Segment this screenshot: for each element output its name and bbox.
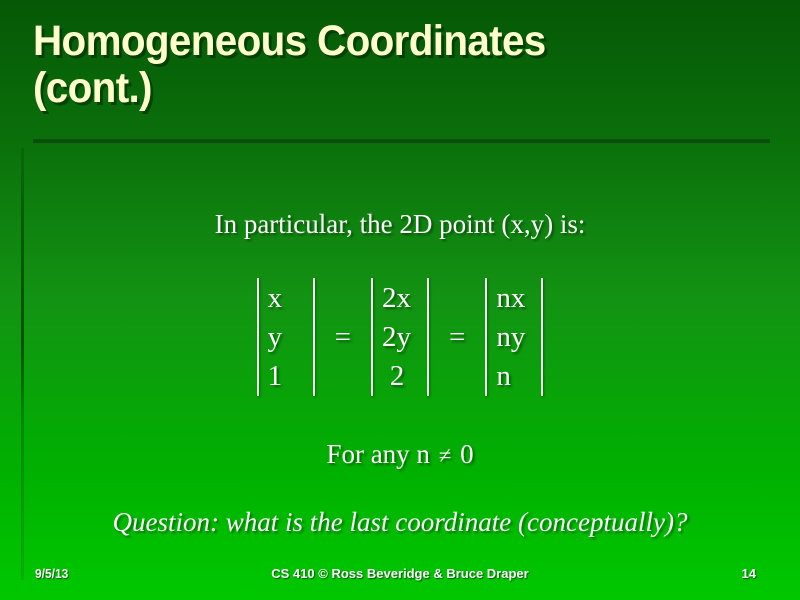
vector-cell: n bbox=[496, 357, 532, 396]
vector-cell: nx bbox=[496, 279, 532, 318]
not-equal-icon: ≠ bbox=[437, 443, 454, 468]
vector-cell: 1 bbox=[268, 357, 304, 396]
slide-footer: 9/5/13 CS 410 © Ross Beveridge & Bruce D… bbox=[0, 566, 800, 588]
vector-cell: 2y bbox=[382, 318, 418, 357]
equals-sign: = bbox=[315, 278, 371, 396]
vector-cartesian: x y 1 bbox=[257, 278, 315, 396]
vector-cells: nx ny n bbox=[487, 278, 541, 396]
condition-text: For any n ≠ 0 bbox=[0, 439, 800, 470]
vector-cell: 2x bbox=[382, 279, 418, 318]
footer-credit: CS 410 © Ross Beveridge & Bruce Draper bbox=[0, 566, 800, 581]
footer-page-number: 14 bbox=[742, 566, 756, 581]
equals-sign: = bbox=[429, 278, 485, 396]
intro-text: In particular, the 2D point (x,y) is: bbox=[0, 209, 800, 240]
vector-cell: 2 bbox=[382, 357, 418, 396]
condition-suffix: 0 bbox=[453, 439, 473, 469]
vector-scaled-by-two: 2x 2y 2 bbox=[371, 278, 429, 396]
question-text: Question: what is the last coordinate (c… bbox=[0, 507, 800, 538]
vector-cell: x bbox=[268, 279, 304, 318]
slide-title-block: Homogeneous Coordinates (cont.) bbox=[33, 18, 763, 112]
vector-cell: ny bbox=[496, 318, 532, 357]
vector-cell: y bbox=[268, 318, 304, 357]
condition-prefix: For any n bbox=[326, 439, 436, 469]
vector-bar-right bbox=[541, 278, 543, 396]
homogeneous-coordinate-equation: x y 1 = 2x 2y 2 = nx ny n bbox=[0, 278, 800, 396]
vector-scaled-by-n: nx ny n bbox=[485, 278, 543, 396]
slide-canvas: Homogeneous Coordinates (cont.) In parti… bbox=[0, 0, 800, 600]
vector-cells: x y 1 bbox=[259, 278, 313, 396]
page-title: Homogeneous Coordinates (cont.) bbox=[33, 18, 719, 112]
title-divider bbox=[33, 139, 770, 143]
vector-cells: 2x 2y 2 bbox=[373, 278, 427, 396]
